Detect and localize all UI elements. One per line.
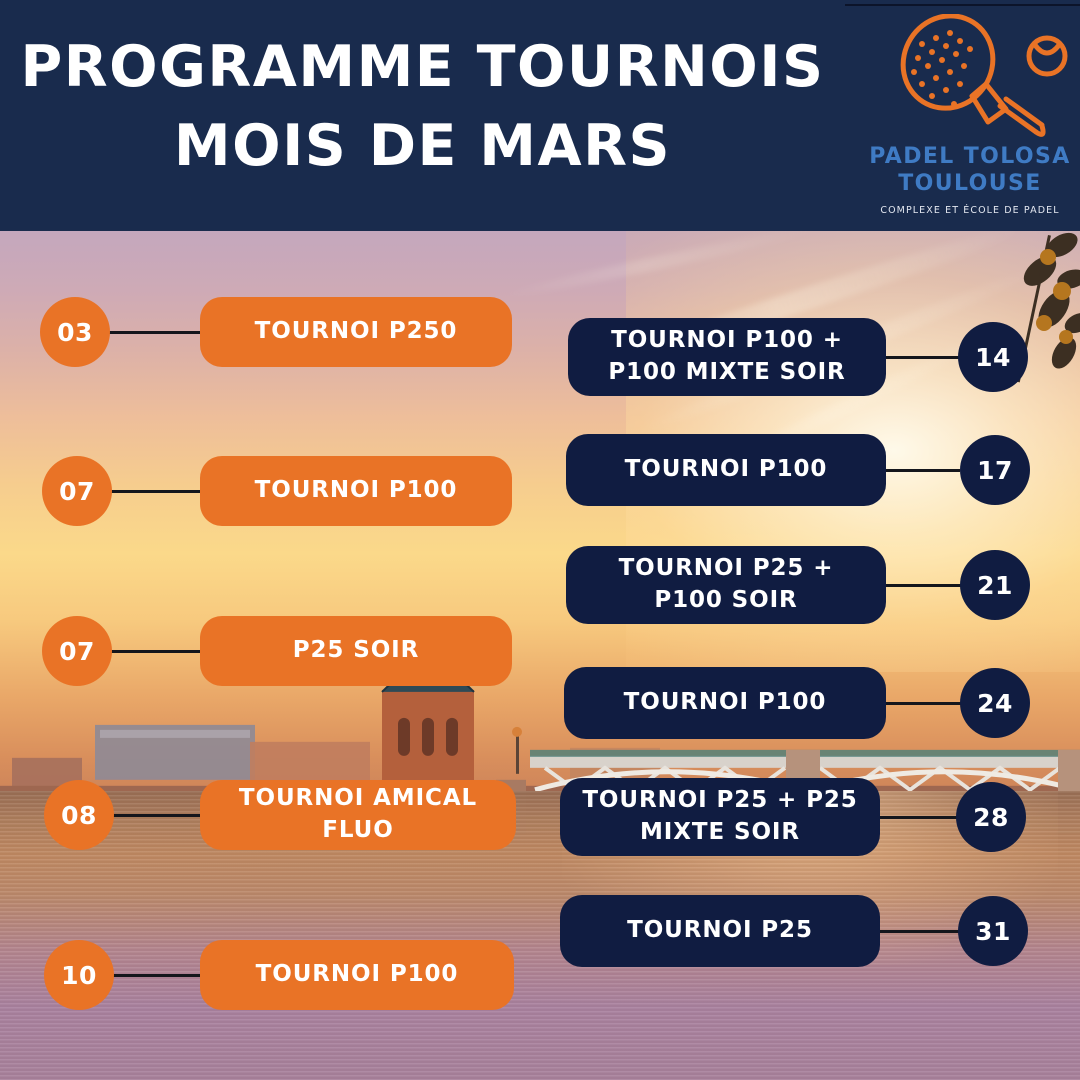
schedule-row-right: TOURNOI P100 + P100 MIXTE SOIR 14 — [540, 322, 1080, 392]
day-badge[interactable]: 21 — [960, 550, 1030, 620]
row-connector — [878, 930, 960, 933]
day-badge[interactable]: 24 — [960, 668, 1030, 738]
event-pill[interactable]: TOURNOI P25 + P100 SOIR — [566, 546, 886, 624]
event-pill[interactable]: TOURNOI P25 — [560, 895, 880, 967]
event-pill[interactable]: TOURNOI P25 + P25 MIXTE SOIR — [560, 778, 880, 856]
day-badge[interactable]: 03 — [40, 297, 110, 367]
schedule-grid: 03 TOURNOI P250 07 TOURNOI P100 07 P25 S… — [0, 0, 1080, 1080]
event-pill[interactable]: TOURNOI P100 — [566, 434, 886, 506]
poster-canvas: PROGRAMME TOURNOIS MOIS DE MARS — [0, 0, 1080, 1080]
day-badge[interactable]: 14 — [958, 322, 1028, 392]
row-connector — [880, 356, 960, 359]
schedule-row-right: TOURNOI P100 24 — [540, 668, 1080, 738]
event-pill[interactable]: TOURNOI P100 — [200, 940, 514, 1010]
schedule-row-left: 07 P25 SOIR — [0, 616, 540, 686]
schedule-row-right: TOURNOI P25 + P25 MIXTE SOIR 28 — [540, 782, 1080, 852]
day-badge[interactable]: 17 — [960, 435, 1030, 505]
event-pill[interactable]: TOURNOI P100 + P100 MIXTE SOIR — [568, 318, 886, 396]
row-connector — [878, 816, 958, 819]
day-badge[interactable]: 07 — [42, 456, 112, 526]
schedule-row-right: TOURNOI P25 + P100 SOIR 21 — [540, 550, 1080, 620]
event-pill[interactable]: TOURNOI P100 — [200, 456, 512, 526]
row-connector — [882, 584, 962, 587]
day-badge[interactable]: 28 — [956, 782, 1026, 852]
row-connector — [880, 702, 962, 705]
day-badge[interactable]: 07 — [42, 616, 112, 686]
event-pill[interactable]: P25 SOIR — [200, 616, 512, 686]
schedule-row-left: 08 TOURNOI AMICAL FLUO — [0, 780, 540, 850]
schedule-row-right: TOURNOI P100 17 — [540, 435, 1080, 505]
schedule-row-left: 07 TOURNOI P100 — [0, 456, 540, 526]
day-badge[interactable]: 10 — [44, 940, 114, 1010]
schedule-row-right: TOURNOI P25 31 — [540, 896, 1080, 966]
day-badge[interactable]: 31 — [958, 896, 1028, 966]
schedule-row-left: 03 TOURNOI P250 — [0, 297, 540, 367]
event-pill[interactable]: TOURNOI P250 — [200, 297, 512, 367]
schedule-row-left: 10 TOURNOI P100 — [0, 940, 540, 1010]
event-pill[interactable]: TOURNOI AMICAL FLUO — [200, 780, 516, 850]
day-badge[interactable]: 08 — [44, 780, 114, 850]
event-pill[interactable]: TOURNOI P100 — [564, 667, 886, 739]
row-connector — [882, 469, 960, 472]
